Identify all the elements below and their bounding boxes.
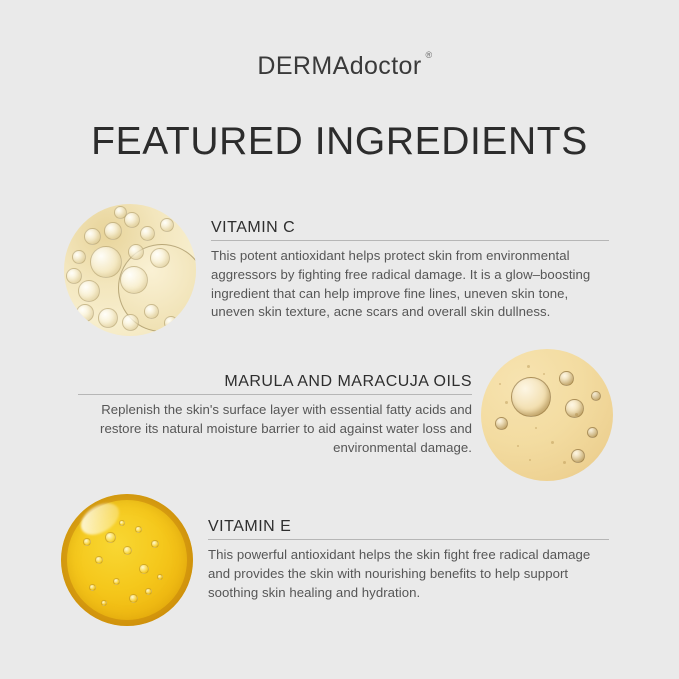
oil-speck (535, 427, 537, 429)
brand-name-strong: DERMA (257, 52, 349, 80)
bubble-shape (164, 316, 178, 330)
bubble-shape (84, 228, 101, 245)
bubble-shape (105, 532, 116, 543)
bubble-shape (157, 574, 163, 580)
bubble-shape (101, 600, 107, 606)
oil-droplet-shape (495, 417, 508, 430)
bubble-shape (119, 520, 125, 526)
section-divider (211, 240, 609, 241)
oil-speck (527, 365, 530, 368)
bubble-shape (89, 584, 96, 591)
brand-wordmark: DERMAdoctor® (257, 52, 421, 81)
bubble-shape (83, 538, 91, 546)
registered-trademark-icon: ® (426, 50, 433, 60)
vitamin-e-golden-droplet-image (61, 494, 193, 626)
bubble-shape (139, 564, 149, 574)
marula-maracuja-oil-droplets-image (481, 349, 613, 481)
oil-speck (563, 461, 566, 464)
bubble-shape (122, 314, 139, 331)
oil-droplet-shape (591, 391, 601, 401)
bubble-shape (120, 266, 148, 294)
vitamin-c-art-container (55, 195, 205, 345)
bubble-shape (144, 304, 159, 319)
bubble-shape (151, 540, 159, 548)
bubble-shape (123, 546, 132, 555)
oils-text-block: MARULA AND MARACUJA OILS Replenish the s… (0, 372, 472, 457)
section-divider (208, 539, 609, 540)
bubble-shape (160, 218, 174, 232)
vitamin-c-bubbles-image (64, 204, 196, 336)
oil-speck (499, 383, 501, 385)
oil-speck (517, 445, 519, 447)
ingredient-title: VITAMIN E (208, 517, 609, 536)
vitamin-e-art-container (52, 485, 202, 635)
oil-droplet-shape (559, 371, 574, 386)
page-title: FEATURED INGREDIENTS (0, 120, 679, 164)
section-divider (78, 394, 472, 395)
oil-droplet-shape (511, 377, 551, 417)
ingredient-title: VITAMIN C (211, 218, 609, 237)
oil-droplet-shape (587, 427, 598, 438)
vitamin-c-text-block: VITAMIN C This potent antioxidant helps … (205, 218, 679, 322)
oils-art-container (472, 340, 622, 490)
ingredient-infographic-page: DERMAdoctor® FEATURED INGREDIENTS (0, 0, 679, 679)
bubble-shape (135, 526, 142, 533)
droplet-rim-shape (61, 494, 193, 626)
bubble-shape (140, 226, 155, 241)
bubble-shape (113, 578, 120, 585)
vitamin-e-text-block: VITAMIN E This powerful antioxidant help… (202, 517, 679, 602)
bubble-shape (114, 206, 127, 219)
ingredient-description: Replenish the skin's surface layer with … (78, 401, 472, 457)
bubble-shape (98, 308, 118, 328)
bubble-shape (145, 588, 152, 595)
ingredient-title: MARULA AND MARACUJA OILS (78, 372, 472, 391)
oil-speck (551, 441, 554, 444)
bubble-shape (78, 280, 100, 302)
bubble-shape (104, 222, 122, 240)
ingredient-description: This potent antioxidant helps protect sk… (211, 247, 609, 322)
brand-logo: DERMAdoctor® (0, 52, 679, 81)
ingredient-description: This powerful antioxidant helps the skin… (208, 546, 609, 602)
bubble-shape (150, 248, 170, 268)
oil-droplet-shape (571, 449, 585, 463)
bubble-shape (66, 268, 82, 284)
brand-name-light: doctor (350, 52, 422, 80)
ingredient-section-vitamin-c: VITAMIN C This potent antioxidant helps … (0, 195, 679, 345)
ingredient-section-vitamin-e: VITAMIN E This powerful antioxidant help… (0, 485, 679, 635)
bubble-shape (72, 250, 86, 264)
oil-speck (543, 373, 545, 375)
oil-speck (575, 413, 578, 416)
bubble-shape (76, 304, 94, 322)
bubble-shape (95, 556, 103, 564)
bubble-shape (128, 244, 144, 260)
oil-speck (529, 459, 531, 461)
bubble-shape (129, 594, 138, 603)
ingredient-section-marula-maracuja-oils: MARULA AND MARACUJA OILS Replenish the s… (0, 340, 679, 490)
oil-speck (505, 401, 508, 404)
bubble-shape (90, 246, 122, 278)
